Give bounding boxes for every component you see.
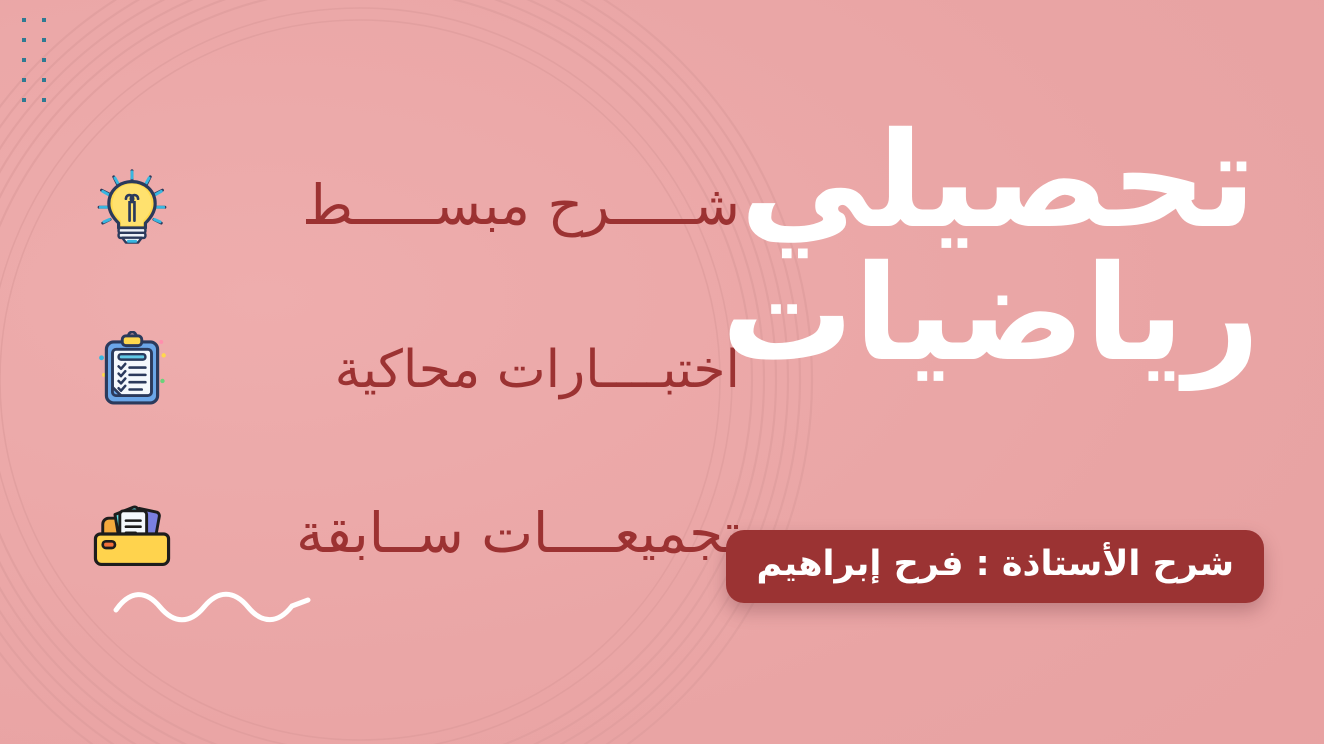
title-line-subject-type: تحصيلي [740,118,1260,245]
wavy-underline-decoration [112,586,312,628]
feature-list: شـــــرح مبســـــط [90,150,740,590]
dot-grid-decoration [14,14,60,106]
teacher-badge: شرح الأستاذة : فرح إبراهيم [726,530,1264,603]
feature-row-simplified-explanation: شـــــرح مبســـــط [90,150,740,262]
poster-title: تحصيلي رياضيات [740,118,1260,377]
feature-label-simulation-tests: اختبــــارات محاكية [200,343,740,398]
feature-label-previous-collections: تجميعــــات ســابقة [200,505,740,563]
feature-label-simplified-explanation: شـــــرح مبســـــط [200,177,740,235]
feature-row-simulation-tests: اختبــــارات محاكية [90,314,740,426]
feature-row-previous-collections: تجميعــــات ســابقة [90,478,740,590]
lightbulb-icon [90,164,174,248]
title-line-subject-name: رياضيات [740,251,1260,378]
clipboard-checklist-icon [90,328,174,412]
folder-documents-icon [90,492,174,576]
poster-canvas: شـــــرح مبســـــط [0,0,1324,744]
